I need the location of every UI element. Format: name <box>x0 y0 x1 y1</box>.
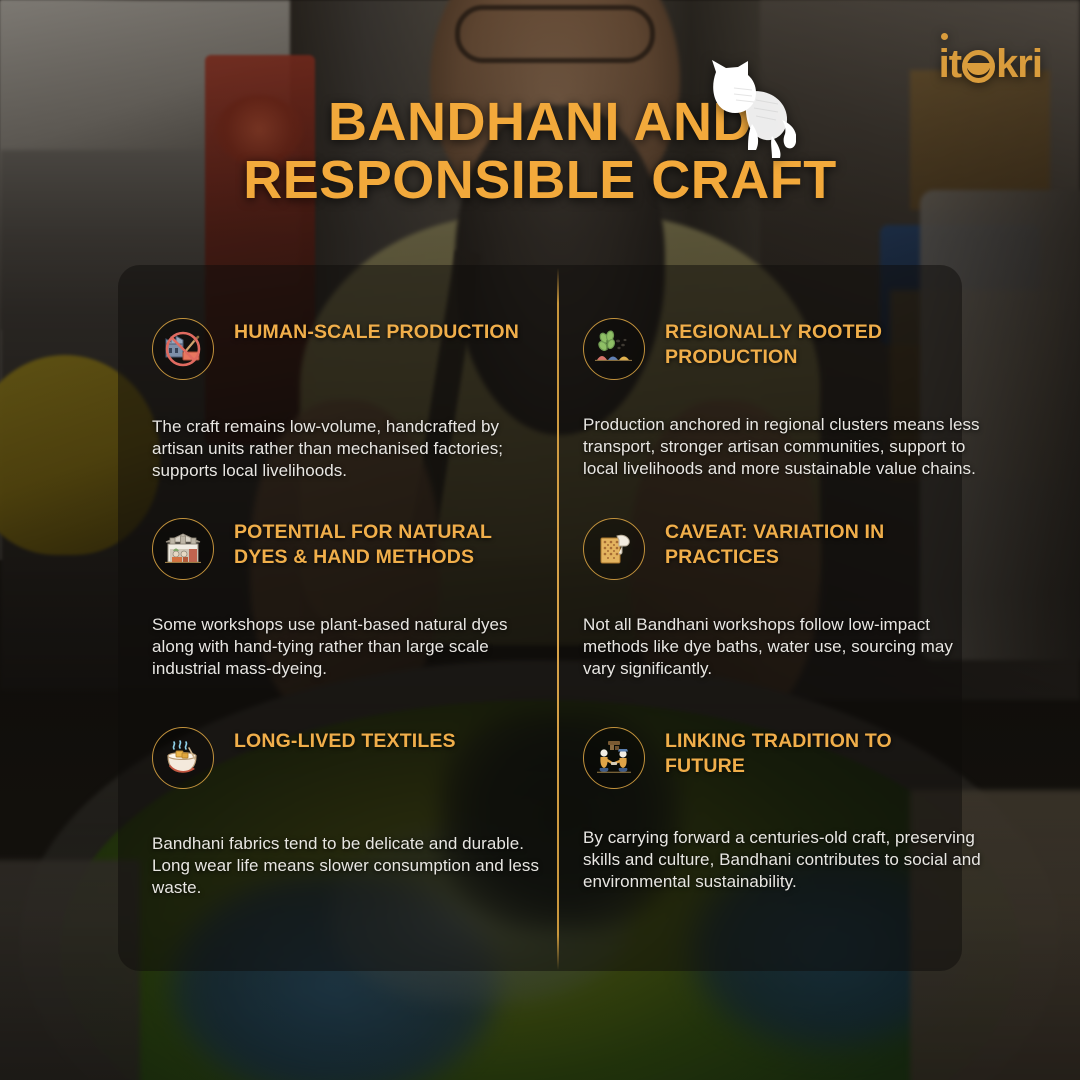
page-title: BANDHANI AND RESPONSIBLE CRAFT <box>0 94 1080 210</box>
brand-logo-o-basket <box>962 50 995 83</box>
card-caveat-variation-in-practices: CAVEAT: VARIATION IN PRACTICES Not all B… <box>583 518 983 679</box>
card-title: LINKING TRADITION TO FUTURE <box>665 729 965 778</box>
brand-logo-kri: kri <box>996 42 1042 87</box>
card-title: LONG-LIVED TEXTILES <box>234 729 534 754</box>
card-header: CAVEAT: VARIATION IN PRACTICES <box>583 518 983 606</box>
brand-logo-itokri[interactable]: itkri <box>939 42 1042 87</box>
workshop-building-icon <box>152 518 214 580</box>
brand-logo-t: t <box>949 42 961 87</box>
card-title: HUMAN-SCALE PRODUCTION <box>234 320 534 345</box>
card-long-lived-textiles: LONG-LIVED TEXTILES Bandhani fabrics ten… <box>152 727 542 898</box>
card-body: The craft remains low-volume, handcrafte… <box>152 416 542 481</box>
poster-header: BANDHANI AND RESPONSIBLE CRAFT itkri <box>0 0 1080 265</box>
card-header: HUMAN-SCALE PRODUCTION <box>152 318 542 406</box>
no-factory-icon <box>152 318 214 380</box>
two-artisans-icon <box>583 727 645 789</box>
card-title: CAVEAT: VARIATION IN PRACTICES <box>665 520 965 569</box>
card-title: POTENTIAL FOR NATURAL DYES & HAND METHOD… <box>234 520 534 569</box>
card-body: Some workshops use plant-based natural d… <box>152 614 542 679</box>
column-divider <box>557 268 559 970</box>
hand-holding-fabric-swatch-icon <box>583 518 645 580</box>
card-regionally-rooted-production: REGIONALLY ROOTED PRODUCTION Production … <box>583 318 983 479</box>
card-header: POTENTIAL FOR NATURAL DYES & HAND METHOD… <box>152 518 542 606</box>
card-header: REGIONALLY ROOTED PRODUCTION <box>583 318 983 406</box>
card-header: LONG-LIVED TEXTILES <box>152 727 542 825</box>
card-body: Production anchored in regional clusters… <box>583 414 983 479</box>
card-body: Not all Bandhani workshops follow low-im… <box>583 614 983 679</box>
card-human-scale-production: HUMAN-SCALE PRODUCTION The craft remains… <box>152 318 542 481</box>
brand-logo-i: i <box>939 42 949 87</box>
steaming-dye-pot-icon <box>152 727 214 789</box>
card-title: REGIONALLY ROOTED PRODUCTION <box>665 320 965 369</box>
infographic-poster: BANDHANI AND RESPONSIBLE CRAFT itkri <box>0 0 1080 1080</box>
plants-and-dye-powders-icon <box>583 318 645 380</box>
card-linking-tradition-to-future: LINKING TRADITION TO FUTURE By carrying … <box>583 727 983 892</box>
page-title-line-2: RESPONSIBLE CRAFT <box>0 152 1080 210</box>
card-potential-for-natural-dyes: POTENTIAL FOR NATURAL DYES & HAND METHOD… <box>152 518 542 679</box>
cat-illustration-icon <box>686 58 796 163</box>
card-body: By carrying forward a centuries-old craf… <box>583 827 983 892</box>
card-header: LINKING TRADITION TO FUTURE <box>583 727 983 819</box>
card-body: Bandhani fabrics tend to be delicate and… <box>152 833 542 898</box>
brand-logo-dot <box>941 33 948 40</box>
